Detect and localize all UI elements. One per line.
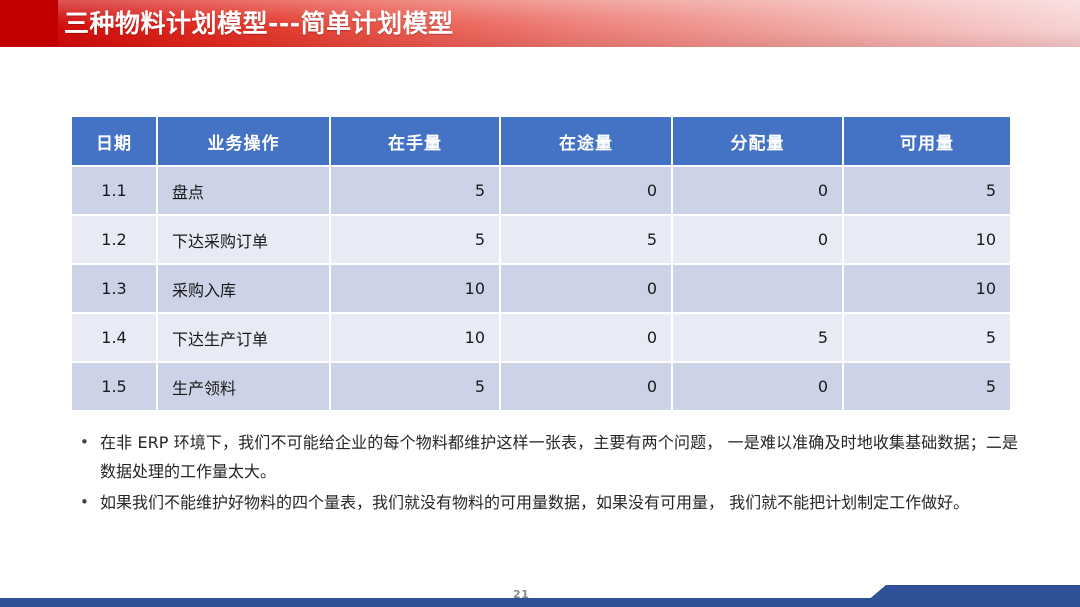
cell-operation: 采购入库 <box>157 264 330 313</box>
cell-operation: 盘点 <box>157 166 330 215</box>
cell-operation: 生产领料 <box>157 362 330 410</box>
bullet-marker-icon: • <box>78 428 100 457</box>
bullet-text: 在非 ERP 环境下，我们不可能给企业的每个物料都维护这样一张表，主要有两个问题… <box>100 428 1018 486</box>
header-left-block <box>0 0 58 47</box>
cell-allocated: 0 <box>672 215 843 264</box>
cell-date: 1.3 <box>72 264 157 313</box>
cell-date: 1.4 <box>72 313 157 362</box>
cell-on-hand: 10 <box>330 313 500 362</box>
cell-in-transit: 5 <box>500 215 672 264</box>
table-row: 1.5 生产领料 5 0 0 5 <box>72 362 1010 410</box>
cell-available: 5 <box>843 362 1010 410</box>
cell-available: 10 <box>843 264 1010 313</box>
header-banner: 三种物料计划模型---简单计划模型 <box>0 0 1080 47</box>
cell-in-transit: 0 <box>500 264 672 313</box>
cell-operation: 下达采购订单 <box>157 215 330 264</box>
bullet-list: • 在非 ERP 环境下，我们不可能给企业的每个物料都维护这样一张表，主要有两个… <box>78 428 1018 519</box>
cell-allocated <box>672 264 843 313</box>
quantity-table-container: 日期 业务操作 在手量 在途量 分配量 可用量 1.1 盘点 5 0 0 5 1… <box>72 117 1010 410</box>
cell-available: 5 <box>843 166 1010 215</box>
column-header-available: 可用量 <box>843 117 1010 166</box>
bullet-marker-icon: • <box>78 488 100 517</box>
column-header-on-hand: 在手量 <box>330 117 500 166</box>
column-header-operation: 业务操作 <box>157 117 330 166</box>
cell-in-transit: 0 <box>500 166 672 215</box>
cell-available: 5 <box>843 313 1010 362</box>
cell-operation: 下达生产订单 <box>157 313 330 362</box>
bullet-text: 如果我们不能维护好物料的四个量表，我们就没有物料的可用量数据，如果没有可用量， … <box>100 488 1018 517</box>
quantity-table: 日期 业务操作 在手量 在途量 分配量 可用量 1.1 盘点 5 0 0 5 1… <box>72 117 1010 410</box>
cell-allocated: 0 <box>672 166 843 215</box>
cell-on-hand: 5 <box>330 215 500 264</box>
cell-date: 1.5 <box>72 362 157 410</box>
table-header-row: 日期 业务操作 在手量 在途量 分配量 可用量 <box>72 117 1010 166</box>
table-row: 1.4 下达生产订单 10 0 5 5 <box>72 313 1010 362</box>
cell-in-transit: 0 <box>500 362 672 410</box>
column-header-allocated: 分配量 <box>672 117 843 166</box>
page-title: 三种物料计划模型---简单计划模型 <box>64 6 454 42</box>
table-row: 1.2 下达采购订单 5 5 0 10 <box>72 215 1010 264</box>
cell-allocated: 5 <box>672 313 843 362</box>
table-row: 1.1 盘点 5 0 0 5 <box>72 166 1010 215</box>
column-header-in-transit: 在途量 <box>500 117 672 166</box>
page-number: 21 <box>513 588 529 601</box>
footer-wedge-shape <box>860 585 1080 607</box>
cell-available: 10 <box>843 215 1010 264</box>
table-row: 1.3 采购入库 10 0 10 <box>72 264 1010 313</box>
cell-allocated: 0 <box>672 362 843 410</box>
cell-date: 1.2 <box>72 215 157 264</box>
cell-on-hand: 5 <box>330 166 500 215</box>
list-item: • 如果我们不能维护好物料的四个量表，我们就没有物料的可用量数据，如果没有可用量… <box>78 488 1018 517</box>
cell-on-hand: 10 <box>330 264 500 313</box>
column-header-date: 日期 <box>72 117 157 166</box>
cell-date: 1.1 <box>72 166 157 215</box>
cell-in-transit: 0 <box>500 313 672 362</box>
cell-on-hand: 5 <box>330 362 500 410</box>
list-item: • 在非 ERP 环境下，我们不可能给企业的每个物料都维护这样一张表，主要有两个… <box>78 428 1018 486</box>
